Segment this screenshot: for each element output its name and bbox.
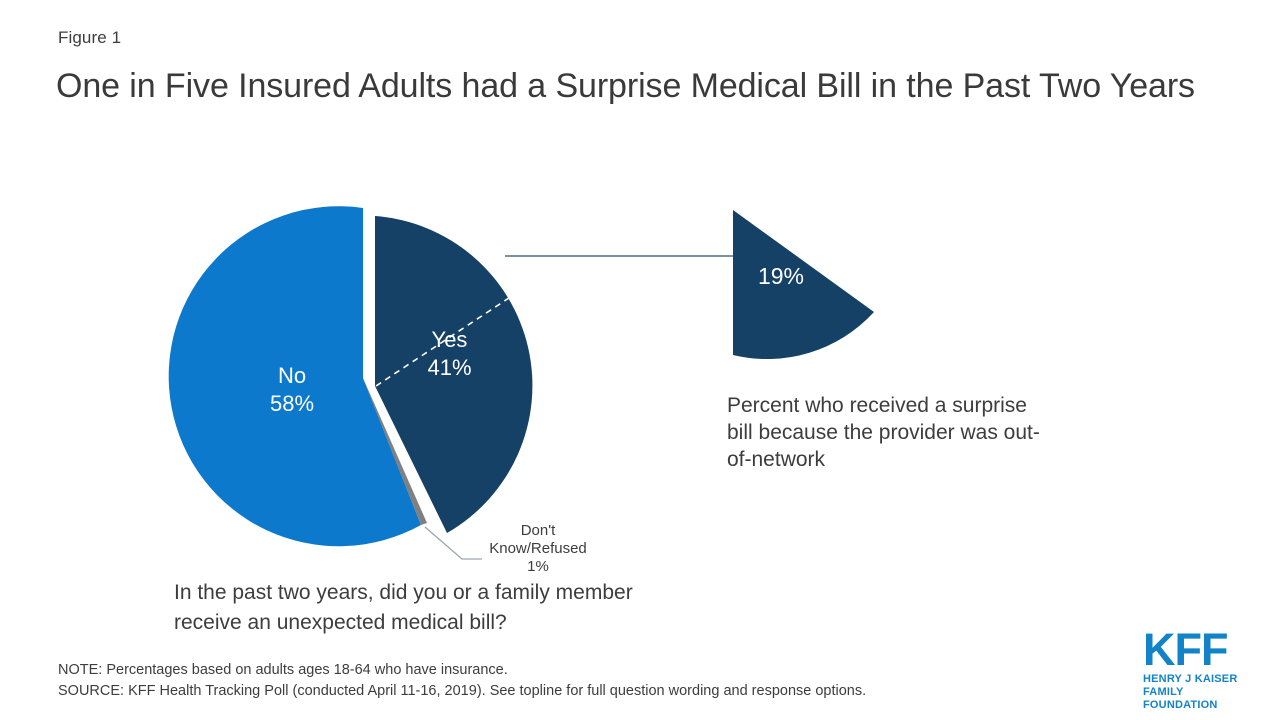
pie-label-dont-know-line1: Don't [478, 522, 598, 540]
kff-logo: KFF HENRY J KAISER FAMILY FOUNDATION [1143, 630, 1253, 712]
kff-logo-subtitle-line2: FAMILY FOUNDATION [1143, 686, 1253, 712]
callout-description: Percent who received a surprise bill bec… [727, 392, 1057, 473]
kff-logo-mark: KFF [1143, 630, 1253, 670]
dont-know-leader-line [425, 527, 482, 559]
kff-logo-subtitle: HENRY J KAISER FAMILY FOUNDATION [1143, 673, 1253, 712]
pie-label-dont-know-value: 1% [478, 558, 598, 576]
footnote-note: NOTE: Percentages based on adults ages 1… [58, 660, 1078, 681]
pie-label-dont-know: Don't Know/Refused 1% [478, 522, 598, 576]
footnote-source: SOURCE: KFF Health Tracking Poll (conduc… [58, 681, 1078, 702]
pie-question-caption: In the past two years, did you or a fami… [174, 578, 694, 638]
footnotes: NOTE: Percentages based on adults ages 1… [58, 660, 1078, 702]
kff-logo-subtitle-line1: HENRY J KAISER [1143, 673, 1253, 686]
callout-wedge-19[interactable] [733, 210, 874, 359]
pie-label-dont-know-line2: Know/Refused [478, 540, 598, 558]
